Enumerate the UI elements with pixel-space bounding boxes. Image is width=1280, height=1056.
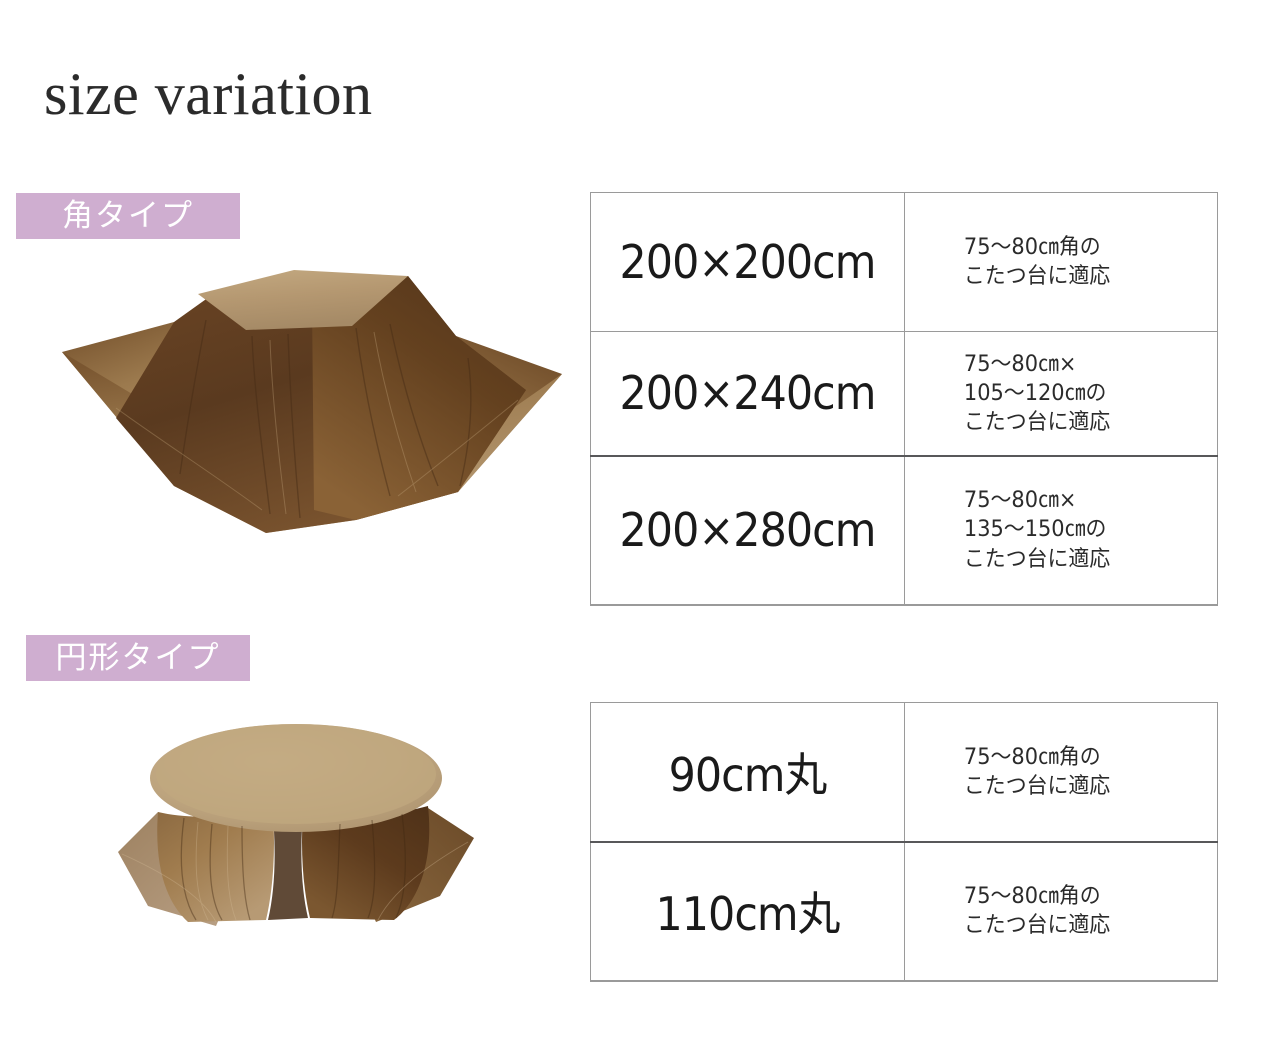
description-label: 75〜80㎝角の こたつ台に適応 <box>905 233 1201 291</box>
size-cell: 90cm丸 <box>591 703 905 842</box>
size-label: 200×240cm <box>602 366 893 420</box>
table-row: 90cm丸 75〜80㎝角の こたつ台に適応 <box>591 703 1218 842</box>
spec-table-round: 90cm丸 75〜80㎝角の こたつ台に適応 110cm丸 75〜80㎝角の こ… <box>590 702 1218 982</box>
table-row: 110cm丸 75〜80㎝角の こたつ台に適応 <box>591 842 1218 981</box>
description-cell: 75〜80㎝角の こたつ台に適応 <box>905 193 1218 332</box>
size-label: 90cm丸 <box>602 739 893 805</box>
type-badge-square: 角タイプ <box>16 193 240 239</box>
size-label: 200×200cm <box>602 235 893 289</box>
description-label: 75〜80㎝× 135〜150㎝の こたつ台に適応 <box>905 486 1201 573</box>
type-badge-round: 円形タイプ <box>26 635 250 681</box>
size-cell: 110cm丸 <box>591 842 905 981</box>
page-title: size variation <box>44 64 373 124</box>
size-cell: 200×200cm <box>591 193 905 332</box>
description-cell: 75〜80㎝× 105〜120㎝の こたつ台に適応 <box>905 332 1218 456</box>
table-row: 200×200cm 75〜80㎝角の こたつ台に適応 <box>591 193 1218 332</box>
description-cell: 75〜80㎝角の こたつ台に適応 <box>905 842 1218 981</box>
round-kotatsu-image <box>96 706 496 956</box>
square-kotatsu-image <box>56 248 568 538</box>
description-label: 75〜80㎝角の こたつ台に適応 <box>905 743 1201 801</box>
size-label: 110cm丸 <box>602 878 893 944</box>
size-cell: 200×240cm <box>591 332 905 456</box>
table-row: 200×280cm 75〜80㎝× 135〜150㎝の こたつ台に適応 <box>591 456 1218 605</box>
description-cell: 75〜80㎝× 135〜150㎝の こたつ台に適応 <box>905 456 1218 605</box>
size-cell: 200×280cm <box>591 456 905 605</box>
description-cell: 75〜80㎝角の こたつ台に適応 <box>905 703 1218 842</box>
table-row: 200×240cm 75〜80㎝× 105〜120㎝の こたつ台に適応 <box>591 332 1218 456</box>
description-label: 75〜80㎝× 105〜120㎝の こたつ台に適応 <box>905 350 1201 437</box>
description-label: 75〜80㎝角の こたつ台に適応 <box>905 882 1201 940</box>
size-label: 200×280cm <box>602 503 893 557</box>
spec-table-square: 200×200cm 75〜80㎝角の こたつ台に適応 200×240cm 75〜… <box>590 192 1218 606</box>
